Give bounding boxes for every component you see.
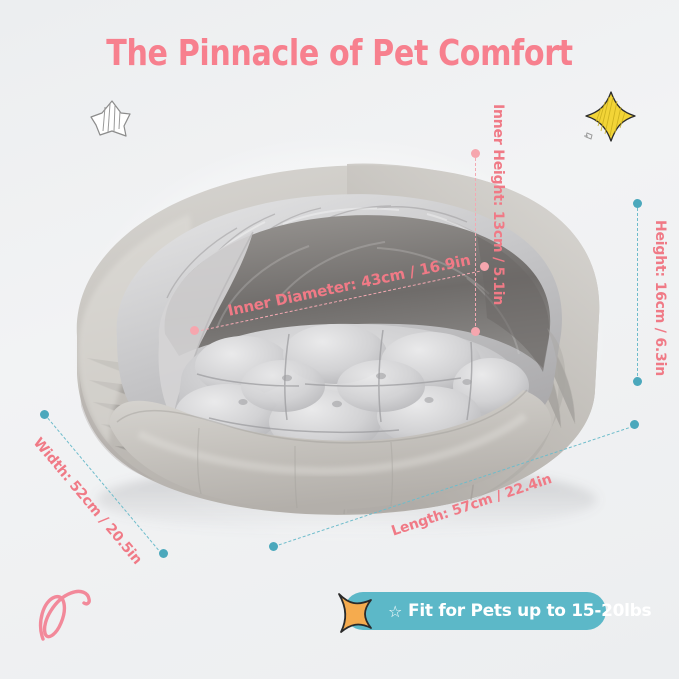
inner-height-label: Inner Height: 13cm / 5.1in	[490, 104, 506, 305]
inner-height-dot-top	[471, 149, 480, 158]
width-dot-end	[159, 549, 168, 558]
height-label: Height: 16cm / 6.3in	[652, 220, 668, 376]
inner-diameter-dot-left	[190, 326, 199, 335]
cursive-swirl-doodle	[33, 583, 113, 645]
badge-label: Fit for Pets up to 15-20lbs	[408, 601, 651, 621]
height-dot-bottom	[633, 377, 642, 386]
height-dot-top	[633, 199, 642, 208]
inner-diameter-dot-right	[480, 262, 489, 271]
inner-height-line	[475, 153, 476, 331]
inner-height-dot-bottom	[471, 327, 480, 336]
width-dot-start	[40, 410, 49, 419]
height-line	[637, 203, 638, 381]
star-outline-icon: ☆	[388, 602, 402, 621]
length-dot-end	[630, 420, 639, 429]
length-dot-start	[269, 542, 278, 551]
four-point-star-icon	[327, 588, 389, 636]
page-title: The Pinnacle of Pet Comfort	[24, 33, 655, 74]
